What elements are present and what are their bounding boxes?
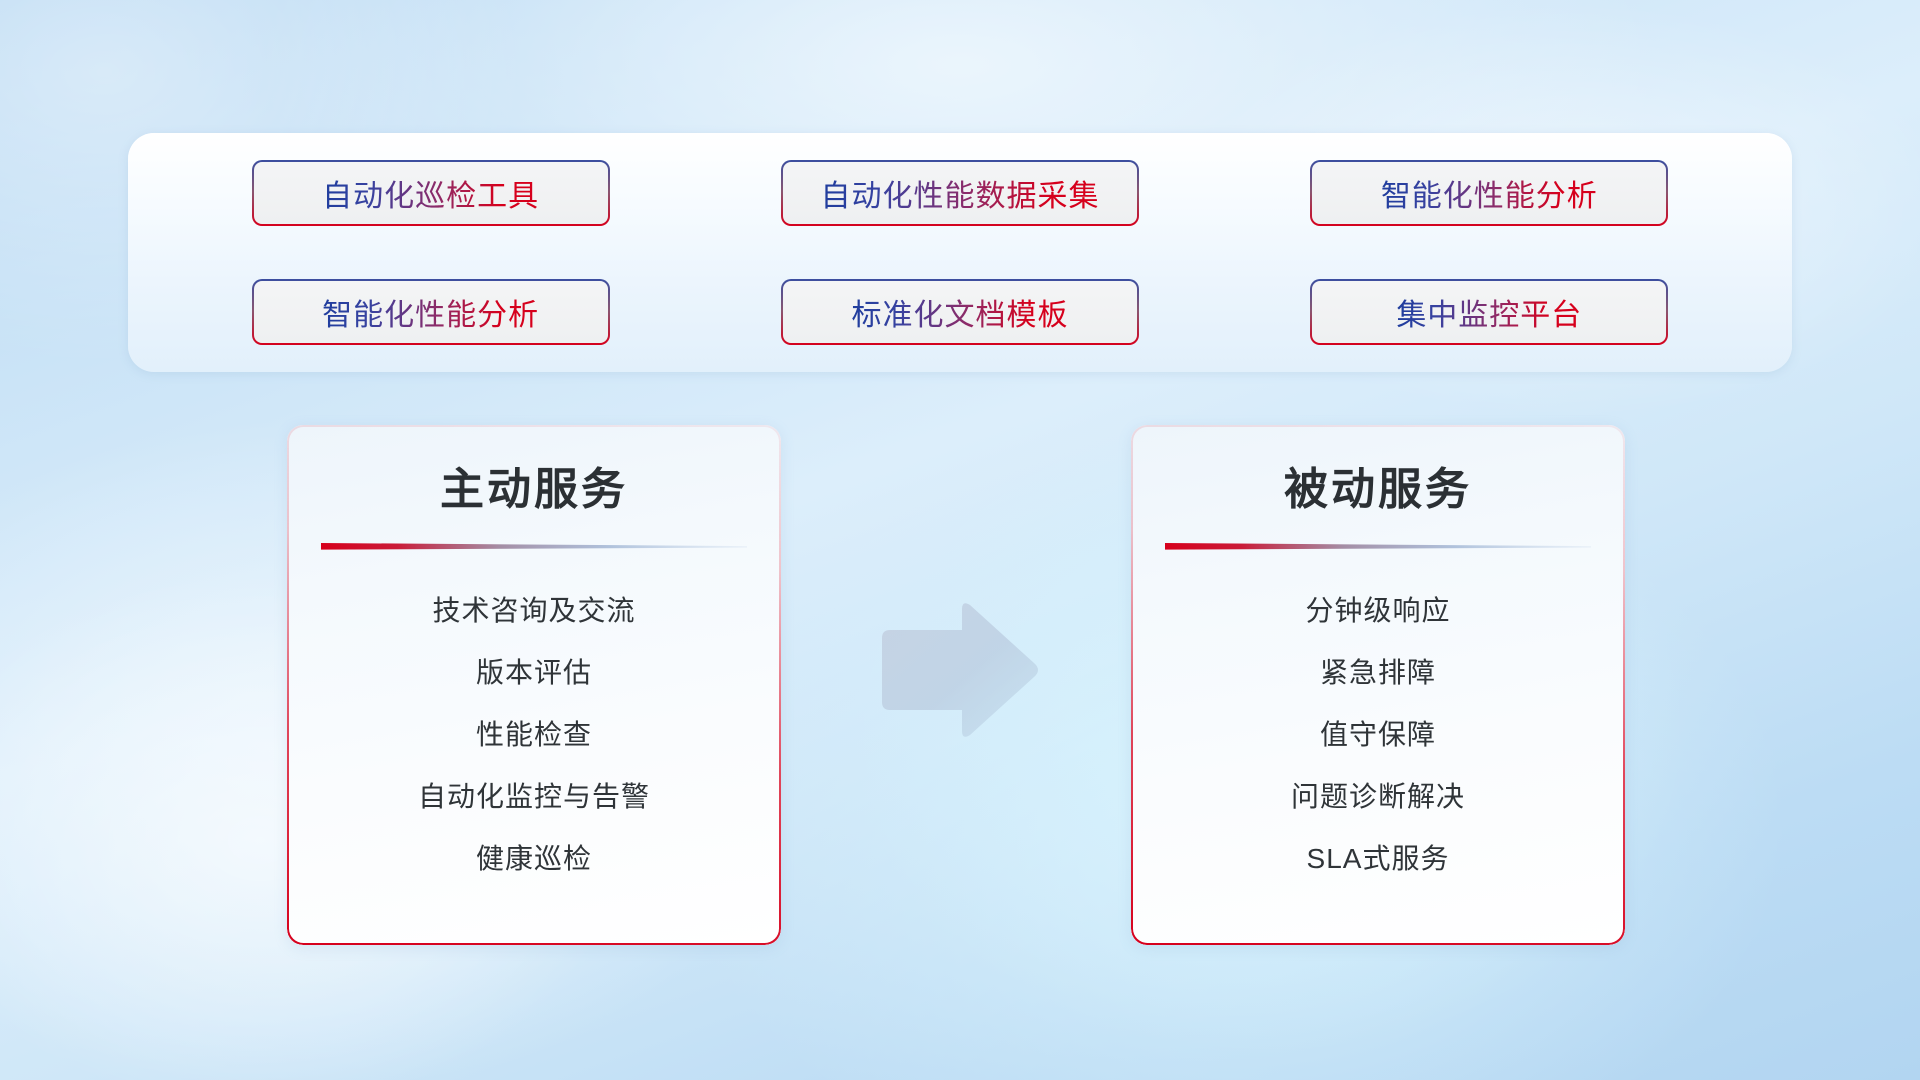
list-item: 分钟级响应 — [1131, 580, 1625, 642]
capability-pill[interactable]: 自动化巡检工具 — [252, 160, 610, 226]
capability-pill-body: 智能化性能分析 — [254, 281, 608, 343]
list-item: 技术咨询及交流 — [287, 580, 781, 642]
list-item: 健康巡检 — [287, 828, 781, 890]
slide-canvas: 自动化巡检工具 自动化性能数据采集 智能化性能分析 智能化性能分析 — [0, 0, 1920, 1080]
capability-pill-grid: 自动化巡检工具 自动化性能数据采集 智能化性能分析 智能化性能分析 — [128, 133, 1792, 372]
capability-pill-label: 智能化性能分析 — [1381, 171, 1598, 215]
active-service-divider — [321, 543, 747, 550]
list-item: 自动化监控与告警 — [287, 766, 781, 828]
active-service-card: 主动服务 技术咨询及交流 版本评估 性能检查 自动化监控与告警 — [287, 425, 781, 945]
capability-pill-body: 标准化文档模板 — [783, 281, 1137, 343]
list-item: 问题诊断解决 — [1131, 766, 1625, 828]
capability-pill-body: 自动化巡检工具 — [254, 162, 608, 224]
active-service-list: 技术咨询及交流 版本评估 性能检查 自动化监控与告警 健康巡检 — [287, 550, 781, 890]
passive-service-title: 被动服务 — [1131, 425, 1625, 517]
capability-pill-label: 集中监控平台 — [1396, 290, 1582, 334]
passive-service-card: 被动服务 分钟级响应 紧急排障 值守保障 问题诊断解决 — [1131, 425, 1625, 945]
capability-pill-label: 智能化性能分析 — [322, 290, 539, 334]
list-item: SLA式服务 — [1131, 828, 1625, 890]
list-item: 版本评估 — [287, 642, 781, 704]
capability-pill-body: 自动化性能数据采集 — [783, 162, 1137, 224]
list-item: 性能检查 — [287, 704, 781, 766]
capability-pill[interactable]: 智能化性能分析 — [252, 279, 610, 345]
capability-pill-label: 自动化性能数据采集 — [820, 171, 1099, 215]
list-item: 值守保障 — [1131, 704, 1625, 766]
active-service-title: 主动服务 — [287, 425, 781, 517]
capability-pill-body: 集中监控平台 — [1312, 281, 1666, 343]
capability-pill-label: 标准化文档模板 — [851, 290, 1068, 334]
arrow-right-icon — [874, 600, 1040, 740]
capability-pill-body: 智能化性能分析 — [1312, 162, 1666, 224]
capability-pill[interactable]: 集中监控平台 — [1310, 279, 1668, 345]
list-item: 紧急排障 — [1131, 642, 1625, 704]
capability-pill[interactable]: 智能化性能分析 — [1310, 160, 1668, 226]
capabilities-panel: 自动化巡检工具 自动化性能数据采集 智能化性能分析 智能化性能分析 — [128, 133, 1792, 372]
capability-pill[interactable]: 标准化文档模板 — [781, 279, 1139, 345]
capability-pill[interactable]: 自动化性能数据采集 — [781, 160, 1139, 226]
passive-service-divider — [1165, 543, 1591, 550]
passive-service-list: 分钟级响应 紧急排障 值守保障 问题诊断解决 SLA式服务 — [1131, 550, 1625, 890]
capability-pill-label: 自动化巡检工具 — [322, 171, 539, 215]
